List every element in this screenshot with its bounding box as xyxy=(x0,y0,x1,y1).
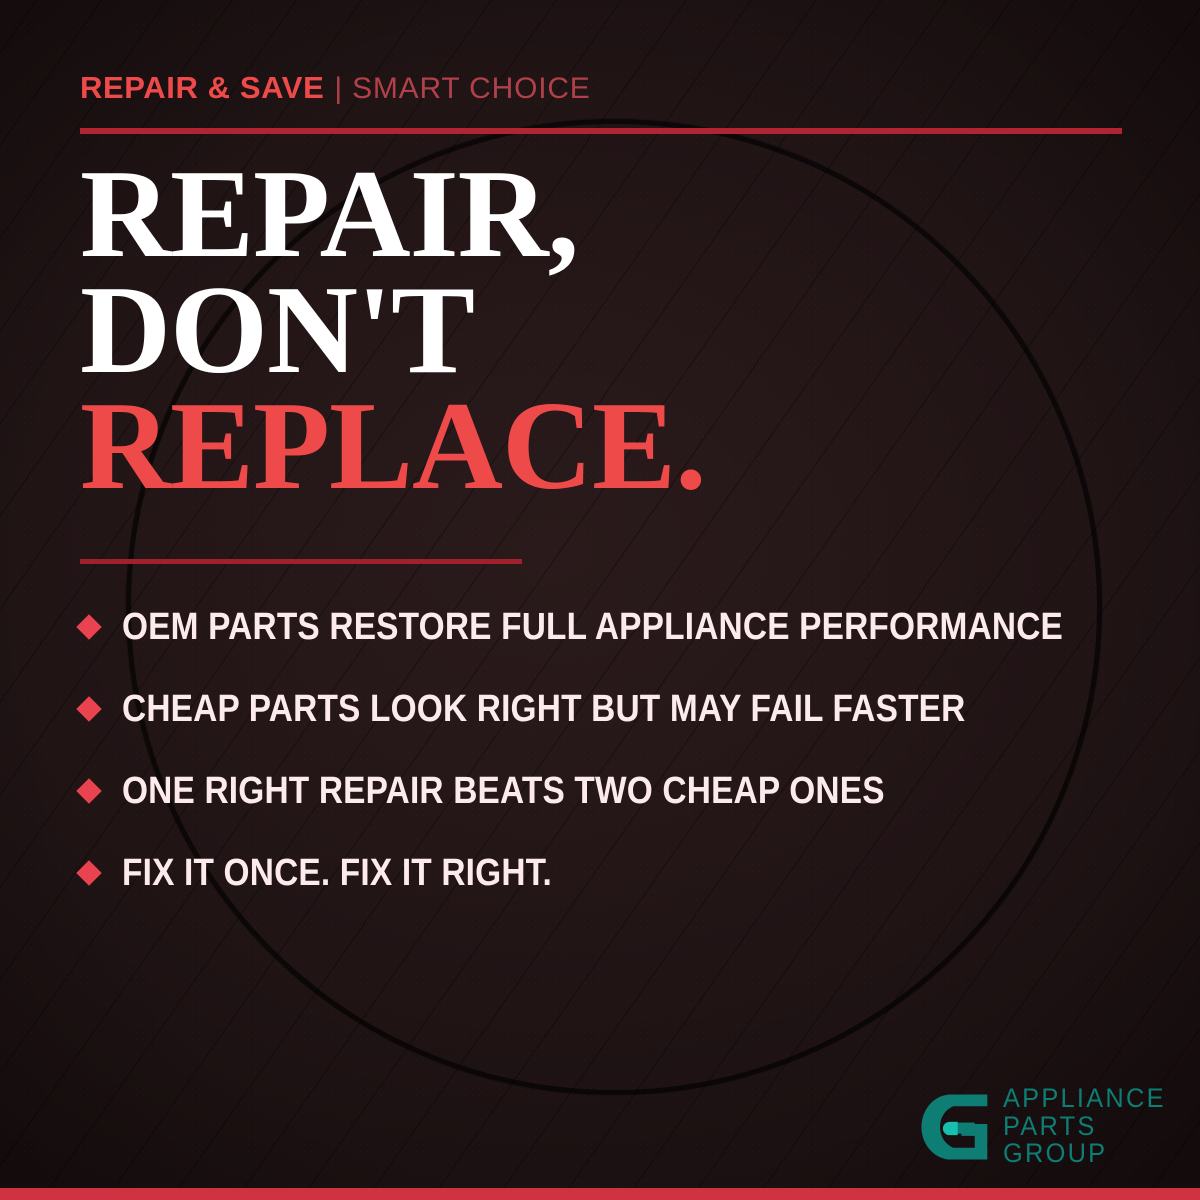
brand-logo-wordmark: APPLIANCE PARTS GROUP xyxy=(1003,1085,1176,1168)
list-item: OEM PARTS RESTORE FULL APPLIANCE PERFORM… xyxy=(80,586,1150,668)
divider-mid xyxy=(80,559,522,564)
poster-content: REPAIR & SAVE| SMART CHOICE REPAIR, DON'… xyxy=(0,0,1200,1200)
benefits-list: OEM PARTS RESTORE FULL APPLIANCE PERFORM… xyxy=(80,586,1150,914)
footer-accent-bar xyxy=(0,1188,1200,1200)
list-item: CHEAP PARTS LOOK RIGHT BUT MAY FAIL FAST… xyxy=(80,668,1150,750)
list-item-label: CHEAP PARTS LOOK RIGHT BUT MAY FAIL FAST… xyxy=(122,688,965,731)
kicker-sub-label: | SMART CHOICE xyxy=(334,72,590,105)
logo-word-3: GROUP xyxy=(1003,1140,1166,1168)
kicker-main-label: REPAIR & SAVE xyxy=(80,70,324,105)
divider-top xyxy=(80,128,1122,134)
diamond-bullet-icon xyxy=(76,696,101,721)
kicker: REPAIR & SAVE| SMART CHOICE xyxy=(80,72,591,104)
list-item-label: FIX IT ONCE. FIX IT RIGHT. xyxy=(122,852,552,895)
list-item-label: ONE RIGHT REPAIR BEATS TWO CHEAP ONES xyxy=(122,770,885,813)
logo-word-2: PARTS xyxy=(1003,1113,1166,1141)
headline-line-1: REPAIR, xyxy=(80,157,706,273)
headline-line-2: DON'T xyxy=(80,273,706,389)
headline-line-3: REPLACE. xyxy=(80,389,706,505)
g-monogram-icon xyxy=(917,1090,991,1164)
poster-canvas: REPAIR & SAVE| SMART CHOICE REPAIR, DON'… xyxy=(0,0,1200,1200)
page-title: REPAIR, DON'T REPLACE. xyxy=(80,157,706,505)
diamond-bullet-icon xyxy=(76,778,101,803)
diamond-bullet-icon xyxy=(76,860,101,885)
list-item-label: OEM PARTS RESTORE FULL APPLIANCE PERFORM… xyxy=(122,606,1063,649)
list-item: ONE RIGHT REPAIR BEATS TWO CHEAP ONES xyxy=(80,750,1150,832)
brand-logo: APPLIANCE PARTS GROUP xyxy=(917,1085,1176,1168)
list-item: FIX IT ONCE. FIX IT RIGHT. xyxy=(80,832,1150,914)
diamond-bullet-icon xyxy=(76,614,101,639)
logo-word-1: APPLIANCE xyxy=(1003,1085,1166,1113)
